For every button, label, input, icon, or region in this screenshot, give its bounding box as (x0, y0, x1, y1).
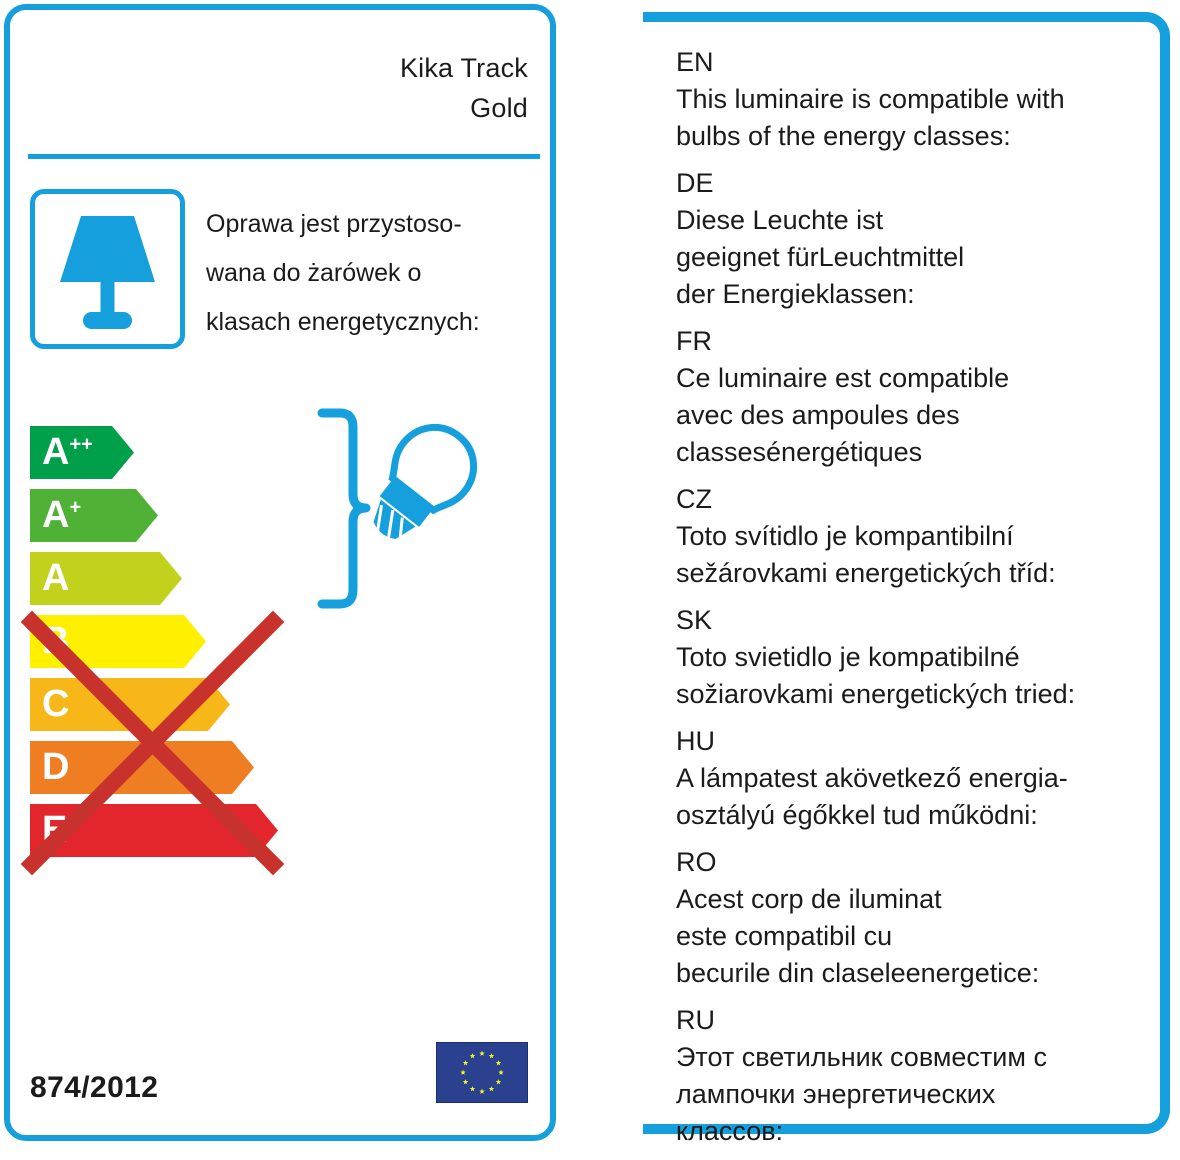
language-code: SK (676, 602, 1176, 639)
language-code: DE (676, 165, 1176, 202)
energy-class-bar: E (30, 804, 278, 857)
language-list: ENThis luminaire is compatible with bulb… (676, 44, 1176, 1160)
language-block-ru: RUЭтот светильник совместим с лампочки э… (676, 1002, 1176, 1150)
language-code: RO (676, 844, 1176, 881)
language-block-de: DEDiese Leuchte ist geeignet fürLeuchtmi… (676, 165, 1176, 313)
curly-brace-icon (322, 413, 366, 604)
language-code: EN (676, 44, 1176, 81)
language-text: Toto svítidlo je kompantibilní sežárovka… (676, 518, 1176, 592)
language-text: Этот светильник совместим с лампочки эне… (676, 1039, 1176, 1150)
language-code: HU (676, 723, 1176, 760)
page-title: Kika Track Gold (108, 48, 528, 128)
language-block-sk: SKToto svietidlo je kompatibilné sožiaro… (676, 602, 1176, 713)
language-code: RU (676, 1002, 1176, 1039)
language-code: CZ (676, 481, 1176, 518)
energy-class-label: D (42, 741, 69, 794)
language-block-en: ENThis luminaire is compatible with bulb… (676, 44, 1176, 155)
energy-class-plus: + (69, 496, 81, 518)
lamp-icon-box (30, 189, 185, 349)
energy-class-label: A (42, 552, 69, 605)
language-block-fr: FRCe luminaire est compatible avec des a… (676, 323, 1176, 471)
energy-class-plus: ++ (69, 433, 92, 455)
language-text: Toto svietidlo je kompatibilné sožiarovk… (676, 639, 1176, 713)
light-bulb-icon (351, 412, 489, 559)
regulation-number: 874/2012 (30, 1071, 158, 1105)
energy-class-label: E (42, 804, 67, 857)
energy-class-bar: B (30, 615, 206, 668)
energy-class-label: C (42, 678, 69, 731)
eu-flag (436, 1042, 528, 1103)
table-lamp-icon (35, 194, 180, 344)
language-text: Acest corp de iluminat este compatibil c… (676, 881, 1176, 992)
language-code: FR (676, 323, 1176, 360)
energy-class-bar: A (30, 552, 182, 605)
energy-class-bar: C (30, 678, 230, 731)
language-text: Diese Leuchte ist geeignet fürLeuchtmitt… (676, 202, 1176, 313)
energy-label-page: Kika Track Gold Oprawa jest przystoso- w… (0, 0, 1180, 1149)
language-block-hu: HUA lámpatest akövetkező energia- osztál… (676, 723, 1176, 834)
energy-class-scale: A++A+ABCDE (30, 426, 280, 866)
energy-class-bar: A++ (30, 426, 134, 479)
energy-class-label: B (42, 615, 69, 668)
header-divider (28, 154, 540, 159)
compatibility-text: Oprawa jest przystoso- wana do żarówek o… (206, 200, 556, 347)
language-block-cz: CZToto svítidlo je kompantibilní sežárov… (676, 481, 1176, 592)
left-panel: Kika Track Gold Oprawa jest przystoso- w… (4, 4, 556, 1141)
language-block-ro: ROAcest corp de iluminat este compatibil… (676, 844, 1176, 992)
language-text: Ce luminaire est compatible avec des amp… (676, 360, 1176, 471)
energy-class-bar: D (30, 741, 254, 794)
energy-class-label: A+ (42, 489, 81, 542)
energy-class-label: A++ (42, 426, 93, 479)
language-text: This luminaire is compatible with bulbs … (676, 81, 1176, 155)
language-text: A lámpatest akövetkező energia- osztályú… (676, 760, 1176, 834)
energy-class-bar: A+ (30, 489, 158, 542)
brace-and-bulb-group (306, 402, 496, 617)
